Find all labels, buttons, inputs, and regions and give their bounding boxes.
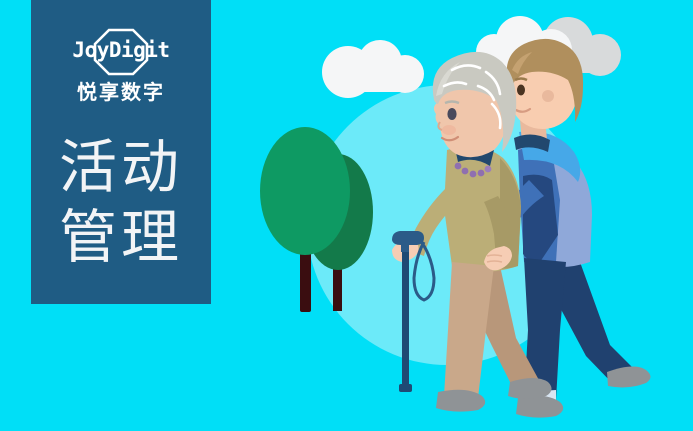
youth-eye (517, 85, 525, 96)
page-title: 活动 管理 (31, 132, 211, 272)
page-title-line-1: 活动 (31, 132, 211, 202)
brand-logo: JoyDigit 悦享数字 (31, 26, 211, 104)
elder-cheek (442, 125, 456, 135)
logo-subtitle: 悦享数字 (31, 80, 211, 104)
logo-wordmark: JoyDigit (31, 37, 211, 63)
youth-ear (542, 90, 554, 102)
elder-eye (447, 108, 456, 120)
info-panel: JoyDigit 悦享数字 活动 管理 (31, 0, 211, 304)
activity-management-banner: JoyDigit 悦享数字 活动 管理 (0, 0, 693, 431)
logo-mark: JoyDigit (31, 26, 211, 78)
page-title-line-2: 管理 (31, 202, 211, 272)
elder-back-shoe (508, 378, 552, 399)
cane-shaft (402, 248, 409, 388)
cane-tip (399, 384, 412, 392)
